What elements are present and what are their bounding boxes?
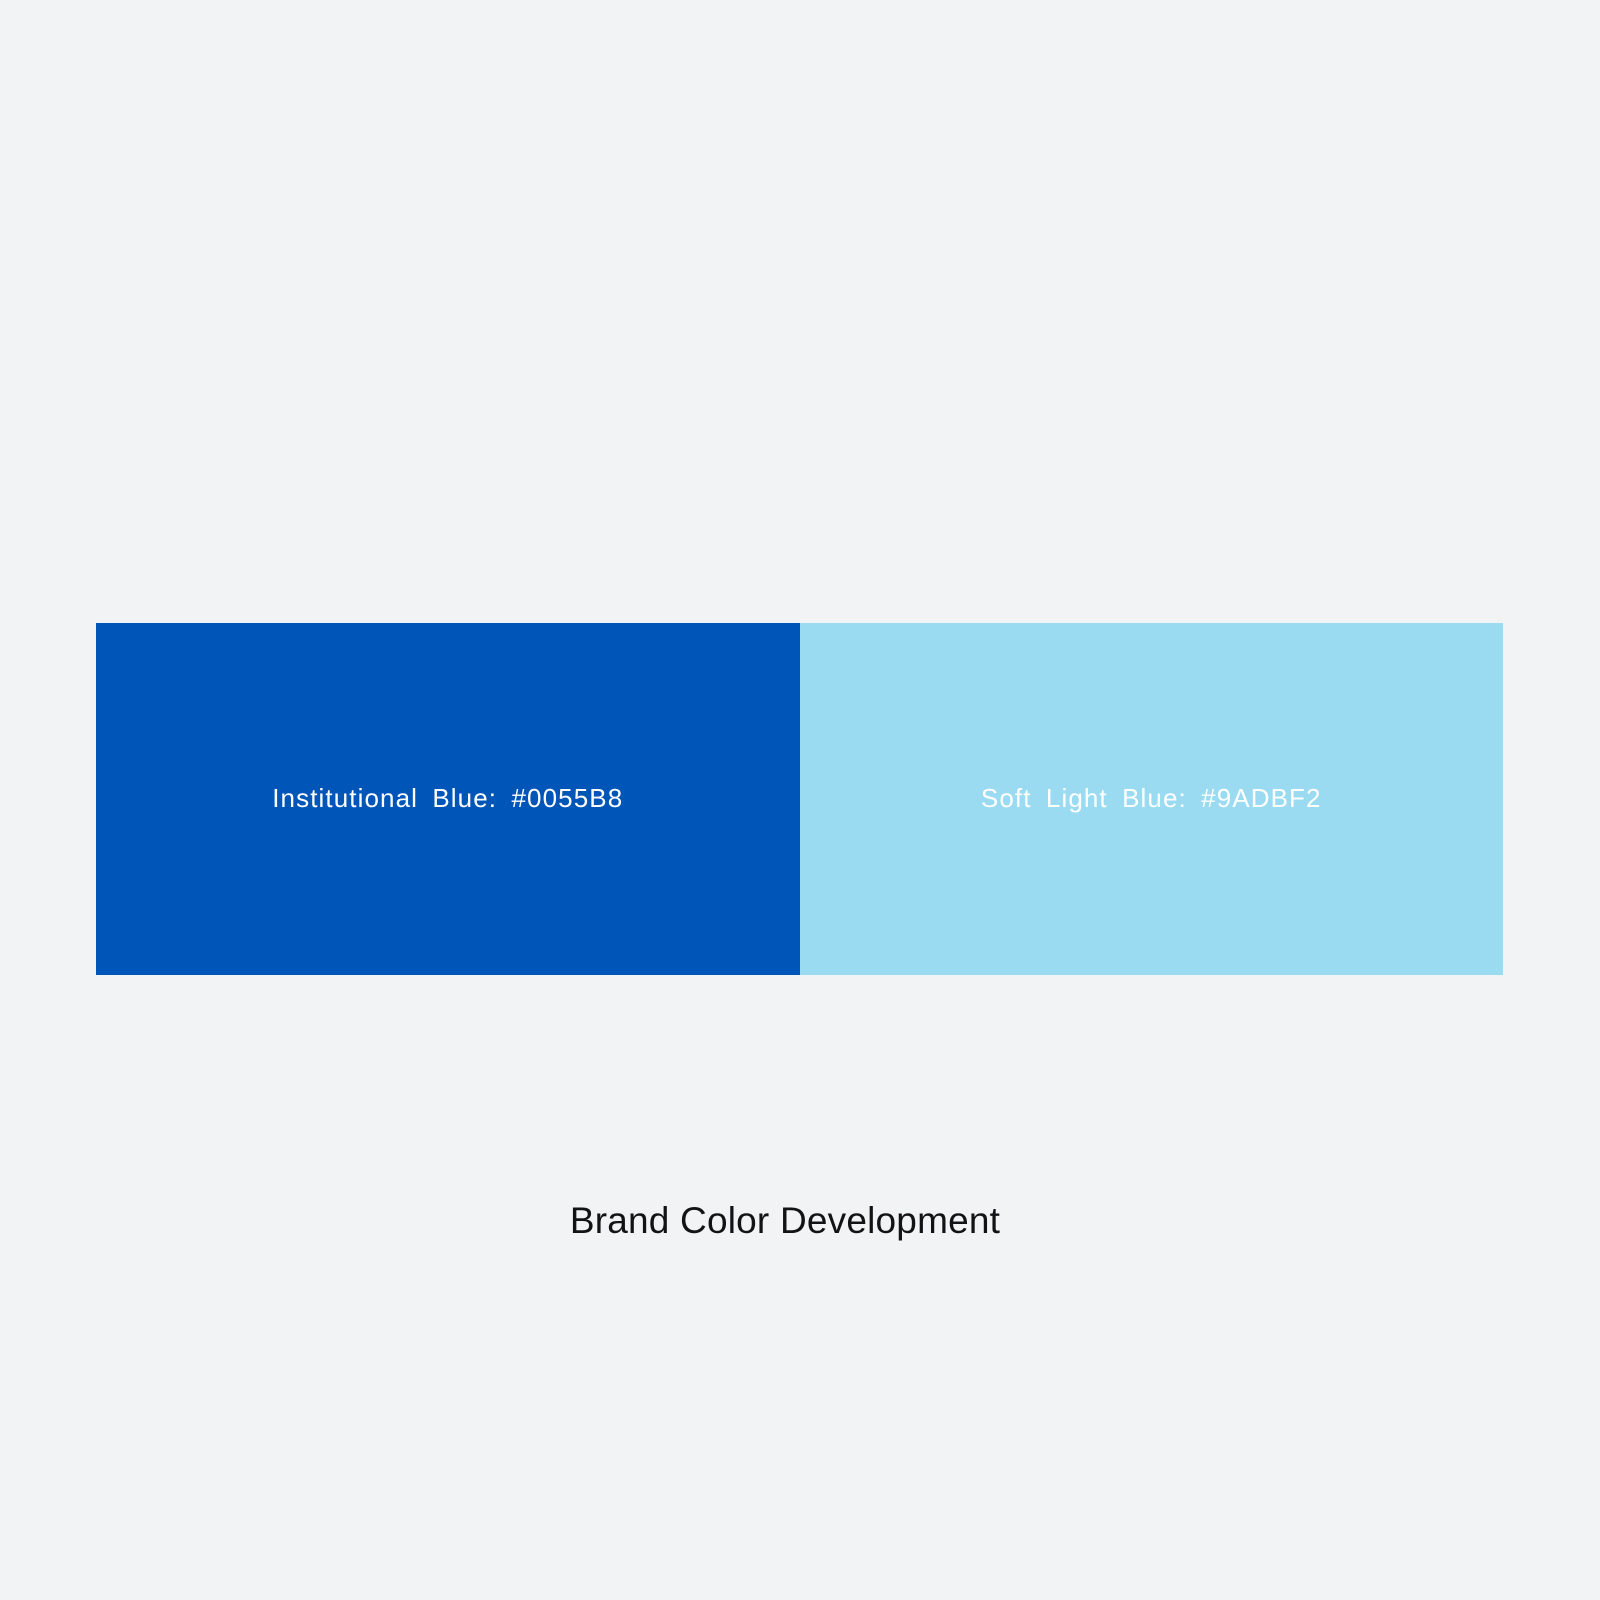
color-swatch-soft-light-blue[interactable]: Soft Light Blue: #9ADBF2	[800, 623, 1504, 975]
color-swatch-institutional-blue[interactable]: Institutional Blue: #0055B8	[96, 623, 800, 975]
caption-title: Brand Color Development	[570, 1198, 1000, 1244]
color-swatch-label: Soft Light Blue: #9ADBF2	[981, 783, 1322, 814]
caption: Brand Color Development	[0, 1198, 1570, 1244]
palette-strip: Institutional Blue: #0055B8 Soft Light B…	[96, 623, 1503, 975]
color-swatch-label: Institutional Blue: #0055B8	[272, 783, 623, 814]
color-palette-canvas: Institutional Blue: #0055B8 Soft Light B…	[0, 0, 1600, 1600]
